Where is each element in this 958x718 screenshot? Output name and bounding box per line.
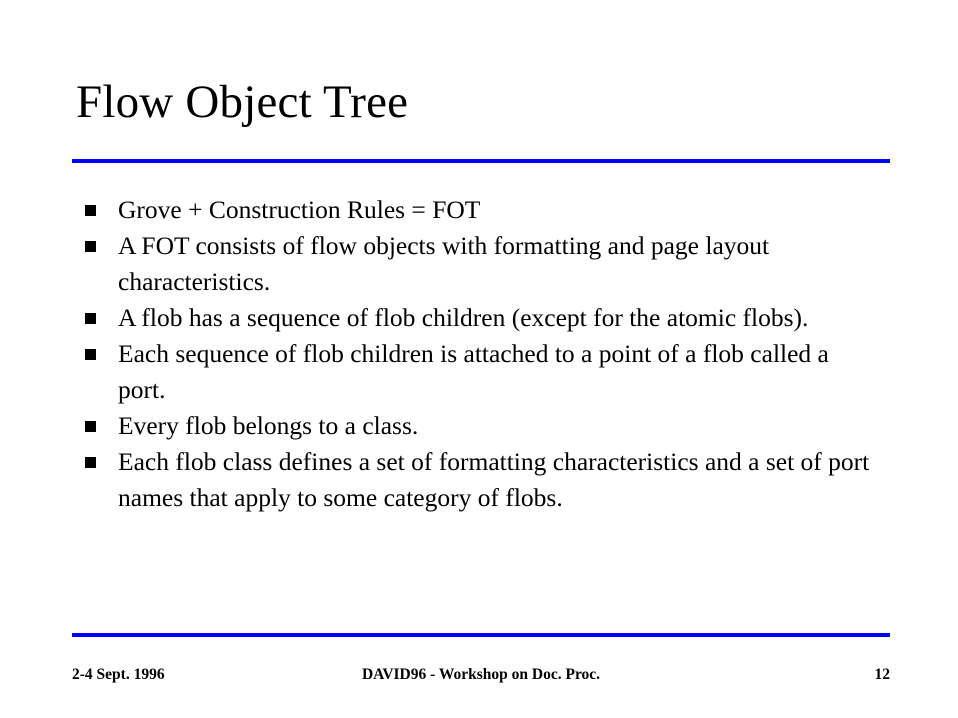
slide-footer: 2-4 Sept. 1996 DAVID96 - Workshop on Doc… [72, 664, 890, 686]
footer-divider-rule [72, 633, 890, 637]
list-item: Each sequence of flob children is attach… [76, 336, 876, 408]
list-item: Grove + Construction Rules = FOT [76, 192, 876, 228]
square-bullet-icon [85, 205, 96, 216]
list-item-label: Every flob belongs to a class. [118, 408, 876, 444]
presentation-slide: Flow Object Tree Grove + Construction Ru… [0, 0, 958, 718]
square-bullet-icon [85, 421, 96, 432]
list-item: A flob has a sequence of flob children (… [76, 300, 876, 336]
list-item: A FOT consists of flow objects with form… [76, 228, 876, 300]
list-item-label: Each sequence of flob children is attach… [118, 336, 876, 408]
footer-page-number: 12 [875, 664, 891, 686]
title-divider-rule [72, 159, 890, 163]
list-item-label: A FOT consists of flow objects with form… [118, 228, 876, 300]
bullet-list: Grove + Construction Rules = FOT A FOT c… [76, 192, 876, 516]
square-bullet-icon [85, 313, 96, 324]
list-item-label: Grove + Construction Rules = FOT [118, 192, 876, 228]
square-bullet-icon [85, 349, 96, 360]
list-item-label: Each flob class defines a set of formatt… [118, 444, 876, 516]
list-item: Each flob class defines a set of formatt… [76, 444, 876, 516]
list-item-label: A flob has a sequence of flob children (… [118, 300, 876, 336]
square-bullet-icon [85, 457, 96, 468]
list-item: Every flob belongs to a class. [76, 408, 876, 444]
page-title: Flow Object Tree [76, 74, 896, 130]
square-bullet-icon [85, 241, 96, 252]
footer-event-title: DAVID96 - Workshop on Doc. Proc. [72, 664, 890, 686]
